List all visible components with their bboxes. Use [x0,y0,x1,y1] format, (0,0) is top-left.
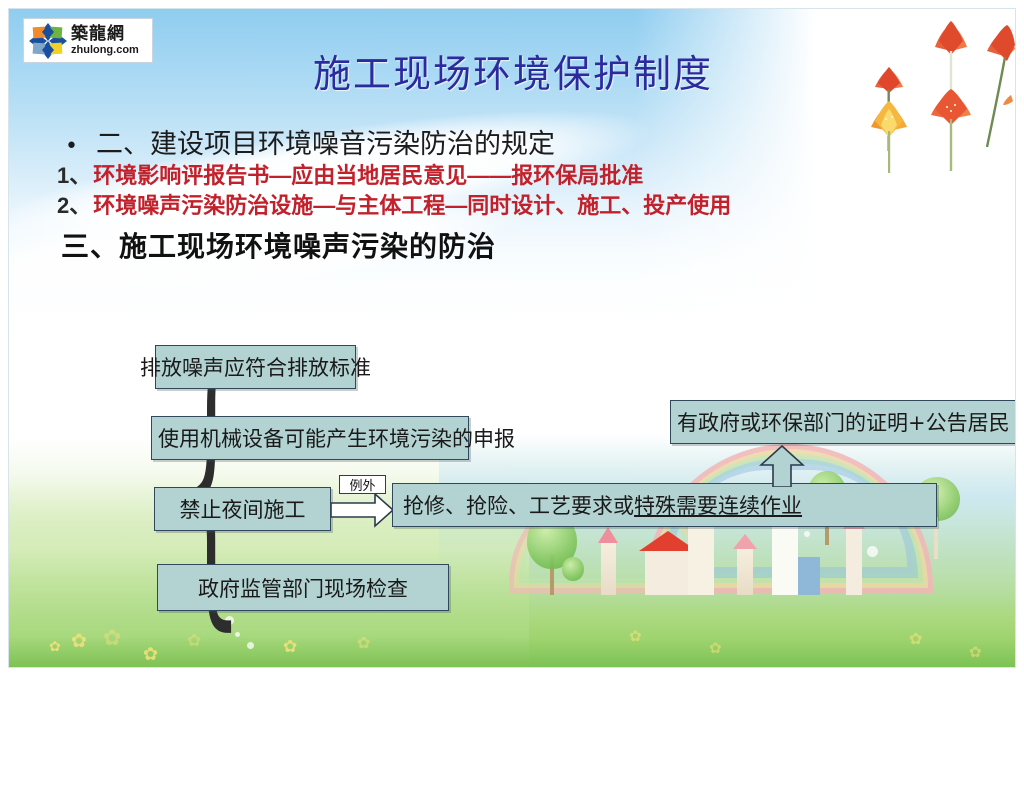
box-machinery-declaration-label: 使用机械设备可能产生环境污染的申报 [158,423,515,453]
box-emission-standard-label: 排放噪声应符合排放标准 [140,352,371,382]
box-govt-inspection-label: 政府监管部门现场检查 [198,573,408,603]
box-proof-and-notice-label: 有政府或环保部门的证明+公告居民 [677,407,1010,437]
box-proof-and-notice[interactable]: 有政府或环保部门的证明+公告居民 [670,400,1016,444]
exception-arrow-right-icon [331,492,395,528]
slide-canvas: ✿ ✿ ✿ ✿ ✿ ✿ ✿ ✿ ✿ ✿ ✿ [8,8,1016,668]
box-machinery-declaration[interactable]: 使用机械设备可能产生环境污染的申报 [151,416,469,460]
box-exception-cases-prefix: 抢修、抢险、工艺要求或 [403,490,634,520]
box-exception-cases-underlined: 特殊需要连续作业 [634,490,802,520]
exception-label-text: 例外 [349,475,375,494]
proof-arrow-up-icon [759,445,805,487]
page-bottom-margin [0,669,1024,792]
box-night-work-ban[interactable]: 禁止夜间施工 [154,487,331,531]
box-night-work-ban-label: 禁止夜间施工 [180,494,306,524]
box-govt-inspection[interactable]: 政府监管部门现场检查 [157,564,449,611]
exception-label-box: 例外 [339,475,386,494]
noise-control-diagram: { 排放噪声应符合排放标准 使用机械设备可能产生环境污染的申报 禁止夜间施工 例… [9,9,1016,668]
box-exception-cases[interactable]: 抢修、抢险、工艺要求或特殊需要连续作业 [392,483,937,527]
box-emission-standard[interactable]: 排放噪声应符合排放标准 [155,345,356,389]
